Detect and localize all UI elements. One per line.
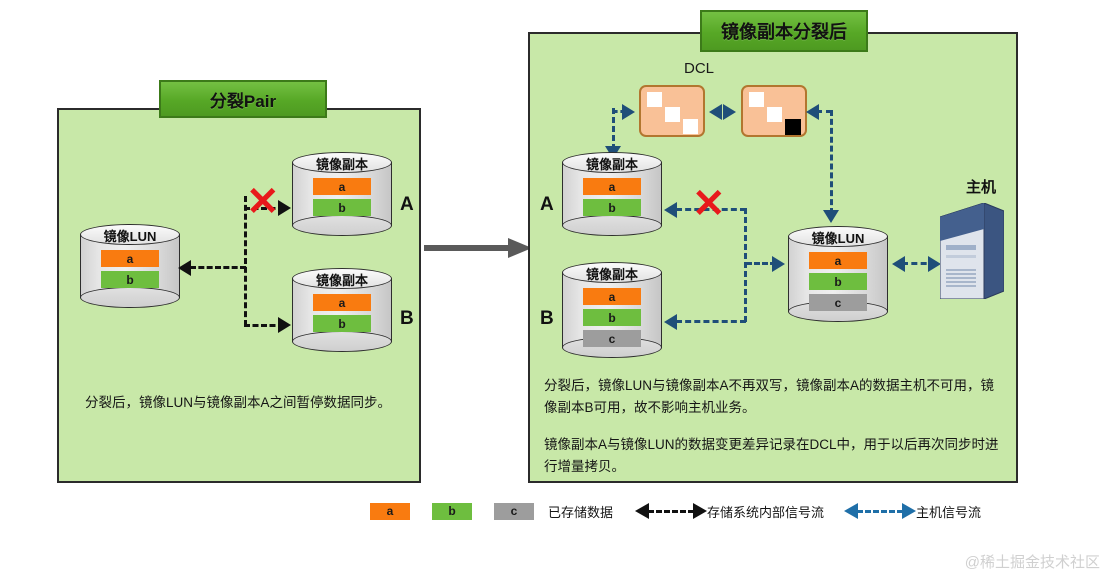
data-block-a: a (101, 250, 159, 267)
right-panel-note-1: 分裂后，镜像LUN与镜像副本A不再双写，镜像副本A的数据主机不可用，镜像副本B可… (544, 375, 1004, 419)
dcl-to-lun-arrow (823, 210, 839, 223)
cylinder-bottom (292, 331, 392, 352)
legend-block-c: c (494, 503, 534, 520)
left-flow-arrow-lun (178, 260, 191, 276)
cylinder-bottom (80, 287, 180, 308)
dcl-box-right (741, 85, 807, 137)
data-block-b: b (583, 309, 641, 326)
dcl-cell-white (767, 107, 782, 122)
dcl-cell-white (683, 119, 698, 134)
right-flow-arrow-copy-a (664, 202, 677, 218)
left-mirror-copy-b-cylinder: 镜像副本 a b (292, 268, 392, 352)
arrow-head-right (693, 503, 707, 519)
transition-arrow-icon (424, 236, 532, 260)
data-block-b: b (313, 199, 371, 216)
arrow-head-left (844, 503, 858, 519)
watermark: @稀土掘金技术社区 (965, 551, 1100, 572)
host-label: 主机 (966, 176, 996, 197)
dcl-cell-white (665, 107, 680, 122)
dcl-cell-black (785, 119, 801, 135)
left-flow-arrow-copy-b (278, 317, 291, 333)
legend-stored-data-label: 已存储数据 (548, 502, 613, 521)
data-block-a: a (809, 252, 867, 269)
cylinder-bottom (292, 215, 392, 236)
left-copy-b-blocks: a b (313, 294, 371, 332)
dcl-left-feed-vertical (612, 108, 615, 150)
arrow-shaft (857, 510, 903, 513)
host-server-icon (940, 203, 1004, 299)
left-copy-a-side-letter: A (400, 194, 414, 216)
dcl-label: DCL (684, 60, 714, 77)
data-block-b: b (313, 315, 371, 332)
legend-block-b: b (432, 503, 472, 520)
dcl-left-feed-arrow (622, 104, 635, 120)
left-copy-b-label: 镜像副本 (292, 270, 392, 289)
left-mirror-lun-label: 镜像LUN (80, 226, 180, 245)
dcl-link-arrow-right (723, 104, 736, 120)
cylinder-bottom (562, 215, 662, 236)
dcl-box-left (639, 85, 705, 137)
arrow-head-left (635, 503, 649, 519)
data-block-a: a (583, 288, 641, 305)
left-mirror-lun-cylinder: 镜像LUN a b (80, 224, 180, 308)
left-mirror-copy-a-cylinder: 镜像副本 a b (292, 152, 392, 236)
data-block-a: a (583, 178, 641, 195)
right-copy-a-label: 镜像副本 (562, 154, 662, 173)
arrow-shaft (648, 510, 694, 513)
right-copy-b-side-letter: B (540, 308, 554, 330)
legend-host-flow-arrow-icon (844, 503, 916, 519)
right-mirror-copy-b-cylinder: 镜像副本 a b c (562, 262, 662, 358)
dcl-right-feed-arrow (806, 104, 819, 120)
right-panel-note-2: 镜像副本A与镜像LUN的数据变更差异记录在DCL中，用于以后再次同步时进行增量拷… (544, 434, 1004, 478)
right-panel-title: 镜像副本分裂后 (700, 10, 868, 52)
right-mirror-lun-cylinder: 镜像LUN a b c (788, 226, 888, 322)
right-copy-a-blocks: a b (583, 178, 641, 216)
right-flow-arrow-copy-b (664, 314, 677, 330)
left-panel-title: 分裂Pair (159, 80, 327, 118)
dcl-cell-white (749, 92, 764, 107)
data-block-b: b (809, 273, 867, 290)
right-broken-link-x-icon: ✕ (692, 184, 726, 224)
right-mirror-lun-blocks: a b c (809, 252, 867, 311)
left-copy-a-blocks: a b (313, 178, 371, 216)
left-copy-b-side-letter: B (400, 308, 414, 330)
right-copy-a-side-letter: A (540, 194, 554, 216)
arrow-head-right (902, 503, 916, 519)
data-block-c: c (809, 294, 867, 311)
right-flow-vertical (744, 208, 747, 322)
right-flow-arrow-lun (772, 256, 785, 272)
right-copy-b-blocks: a b c (583, 288, 641, 347)
data-block-a: a (313, 178, 371, 195)
right-copy-b-label: 镜像副本 (562, 264, 662, 283)
dcl-cell-white (647, 92, 662, 107)
data-block-a: a (313, 294, 371, 311)
legend: a b c 已存储数据 存储系统内部信号流 主机信号流 (370, 500, 981, 522)
right-mirror-lun-label: 镜像LUN (788, 228, 888, 247)
left-copy-a-label: 镜像副本 (292, 154, 392, 173)
right-mirror-copy-a-cylinder: 镜像副本 a b (562, 152, 662, 236)
dcl-right-feed-vertical (830, 110, 833, 214)
left-flow-to-lun (190, 266, 246, 269)
left-flow-arrow-copy-a (278, 200, 291, 216)
host-link-arrow-left (892, 256, 905, 272)
data-block-b: b (583, 199, 641, 216)
legend-host-flow-label: 主机信号流 (916, 502, 981, 521)
left-broken-link-x-icon: ✕ (246, 182, 280, 222)
left-mirror-lun-blocks: a b (101, 250, 159, 288)
data-block-b: b (101, 271, 159, 288)
dcl-link-arrow-left (709, 104, 722, 120)
left-panel-note: 分裂后，镜像LUN与镜像副本A之间暂停数据同步。 (85, 392, 395, 414)
right-flow-to-copy-b (676, 320, 746, 323)
data-block-c: c (583, 330, 641, 347)
legend-internal-flow-arrow-icon (635, 503, 707, 519)
legend-block-a: a (370, 503, 410, 520)
legend-internal-flow-label: 存储系统内部信号流 (707, 502, 824, 521)
